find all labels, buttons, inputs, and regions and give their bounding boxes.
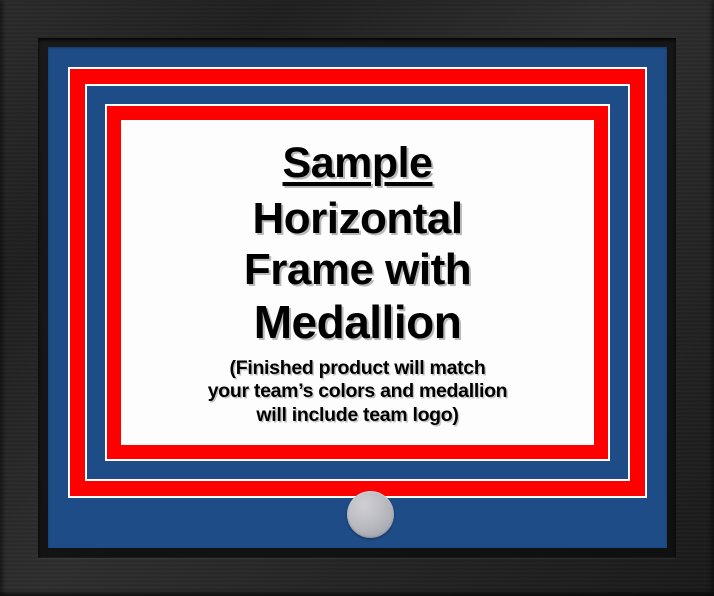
headline-line-3: Medallion: [254, 299, 462, 345]
disclaimer-note-line-3: will include team logo): [208, 404, 508, 427]
disclaimer-note-line-2: your team’s colors and medallion: [208, 380, 508, 403]
framed-sample-image: Sample Horizontal Frame with Medallion (…: [0, 0, 714, 596]
disclaimer-note: (Finished product will match your team’s…: [208, 357, 508, 427]
headline-line-2: Frame with: [244, 248, 471, 292]
sample-heading: Sample: [283, 142, 433, 185]
headline-line-1: Horizontal: [252, 197, 462, 241]
disclaimer-note-line-1: (Finished product will match: [208, 357, 508, 380]
medallion-disc: [347, 491, 394, 538]
print-area: Sample Horizontal Frame with Medallion (…: [121, 120, 594, 445]
